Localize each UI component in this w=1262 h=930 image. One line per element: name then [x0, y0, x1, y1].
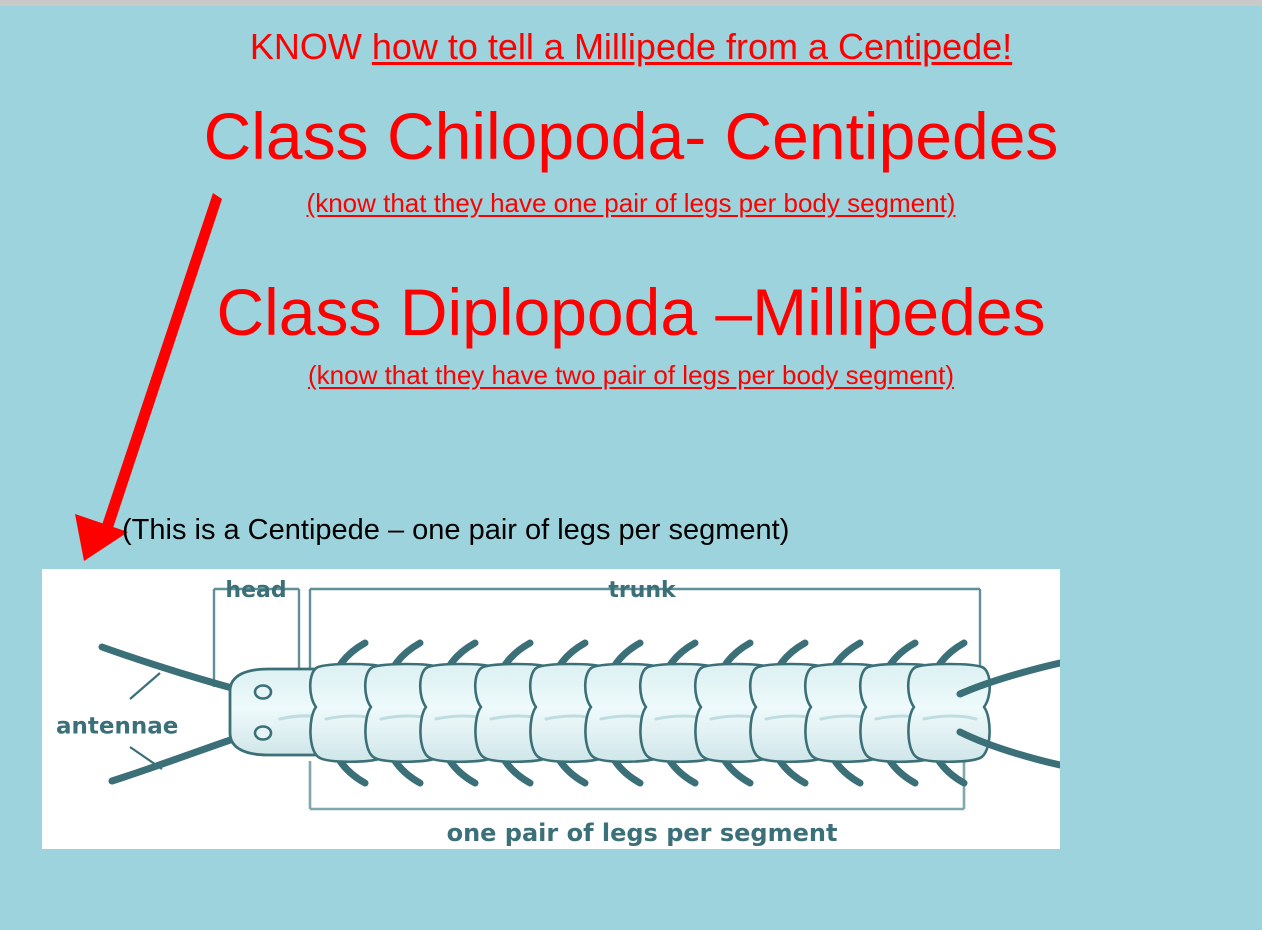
eye-upper: [255, 686, 271, 699]
heading-diplopoda: Class Diplopoda –Millipedes: [0, 278, 1262, 347]
arrow-shaft: [102, 193, 222, 528]
heading-chilopoda: Class Chilopoda- Centipedes: [0, 102, 1262, 171]
label-head: head: [225, 578, 286, 603]
title-prefix: KNOW: [250, 26, 362, 67]
label-trunk: trunk: [608, 578, 677, 603]
subtitle-diplopoda: (know that they have two pair of legs pe…: [0, 362, 1262, 389]
centipede-diagram: head trunk antennae: [42, 569, 1060, 849]
subtitle-chilopoda: (know that they have one pair of legs pe…: [0, 190, 1262, 217]
slide-title: KNOW how to tell a Millipede from a Cent…: [0, 28, 1262, 66]
trunk-segments: [310, 664, 990, 762]
centipede-diagram-svg: head trunk antennae: [42, 569, 1060, 849]
label-bottom-caption: one pair of legs per segment: [447, 819, 838, 847]
title-spacer: [362, 26, 372, 67]
centipede-trunk: [310, 643, 990, 783]
diagram-caption: (This is a Centipede – one pair of legs …: [0, 515, 1262, 545]
slide-canvas: KNOW how to tell a Millipede from a Cent…: [0, 6, 1262, 930]
label-antennae: antennae: [56, 714, 178, 740]
eye-lower: [255, 727, 271, 740]
title-underlined-part: how to tell a Millipede from a Centipede…: [372, 26, 1012, 67]
